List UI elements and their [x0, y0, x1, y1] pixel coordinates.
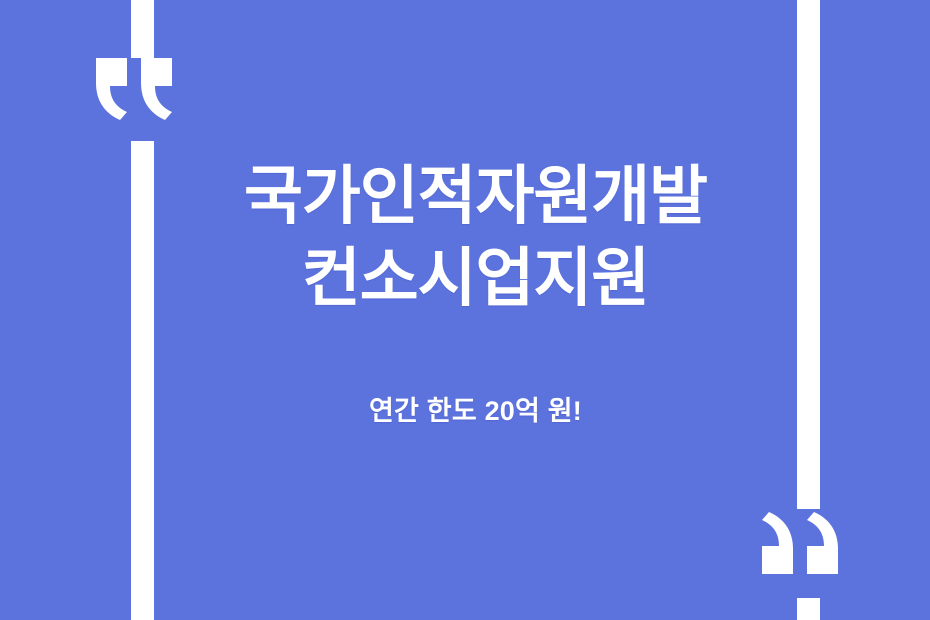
page-title-line-1: 국가인적자원개발	[244, 156, 707, 237]
page-title-line-2: 컨소시업지원	[244, 238, 707, 319]
page-subtitle: 연간 한도 20억 원!	[369, 389, 582, 428]
right-vertical-rule-top	[797, 0, 820, 509]
left-vertical-rule-top	[131, 0, 154, 58]
poster-content: 국가인적자원개발 컨소시업지원 연간 한도 20억 원!	[154, 0, 797, 620]
page-title: 국가인적자원개발 컨소시업지원	[244, 156, 707, 319]
left-vertical-rule-bottom	[131, 141, 154, 620]
right-vertical-rule-bottom	[797, 598, 820, 620]
poster-content-inner: 국가인적자원개발 컨소시업지원 연간 한도 20억 원!	[244, 156, 707, 428]
promo-banner: 국가인적자원개발 컨소시업지원 연간 한도 20억 원!	[0, 0, 930, 620]
